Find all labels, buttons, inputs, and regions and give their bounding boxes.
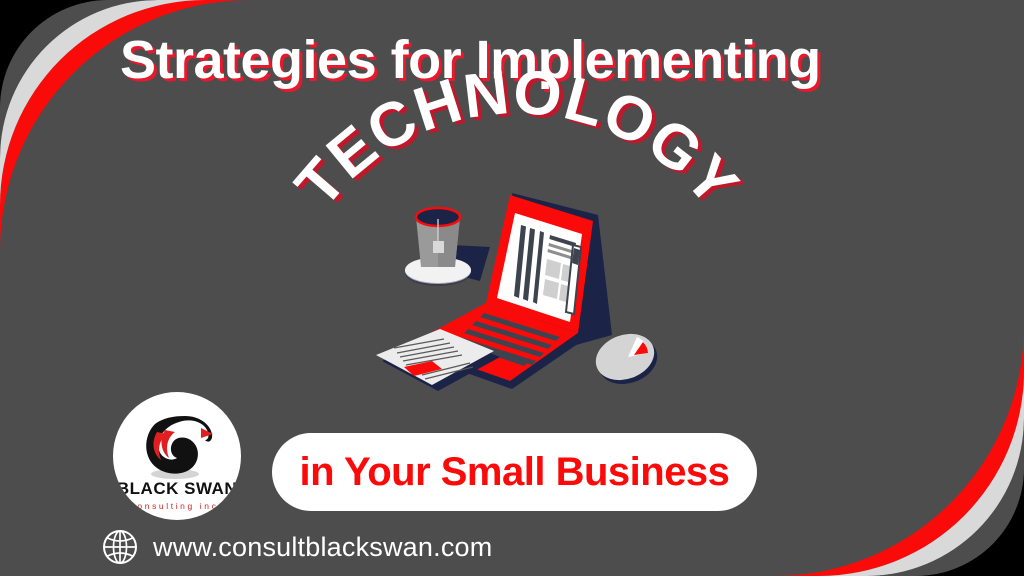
logo-tagline: consulting inc. <box>131 501 224 511</box>
corner-band-lightgray <box>819 371 1024 576</box>
subtitle-text: in Your Small Business <box>300 450 730 495</box>
corner-band-black <box>916 468 1024 576</box>
logo-wordmark: BLACK SWAN <box>117 479 237 498</box>
corner-arcs-bottom-right <box>764 316 1024 576</box>
black-swan-mark <box>146 416 213 479</box>
corner-band-black <box>0 0 108 108</box>
logo-badge[interactable]: BLACK SWAN consulting inc. <box>113 392 241 520</box>
workspace-illustration <box>360 185 670 420</box>
globe-icon <box>101 528 139 566</box>
corner-band-darkgray <box>866 418 1024 576</box>
teabag-tag <box>433 241 444 253</box>
website-url[interactable]: www.consultblackswan.com <box>153 532 492 563</box>
website-row[interactable]: www.consultblackswan.com <box>101 524 492 570</box>
corner-band-red <box>774 326 1024 576</box>
subtitle-pill: in Your Small Business <box>272 433 757 511</box>
poster-canvas: Strategies for Implementing TECHNOLOGY T… <box>0 0 1024 576</box>
